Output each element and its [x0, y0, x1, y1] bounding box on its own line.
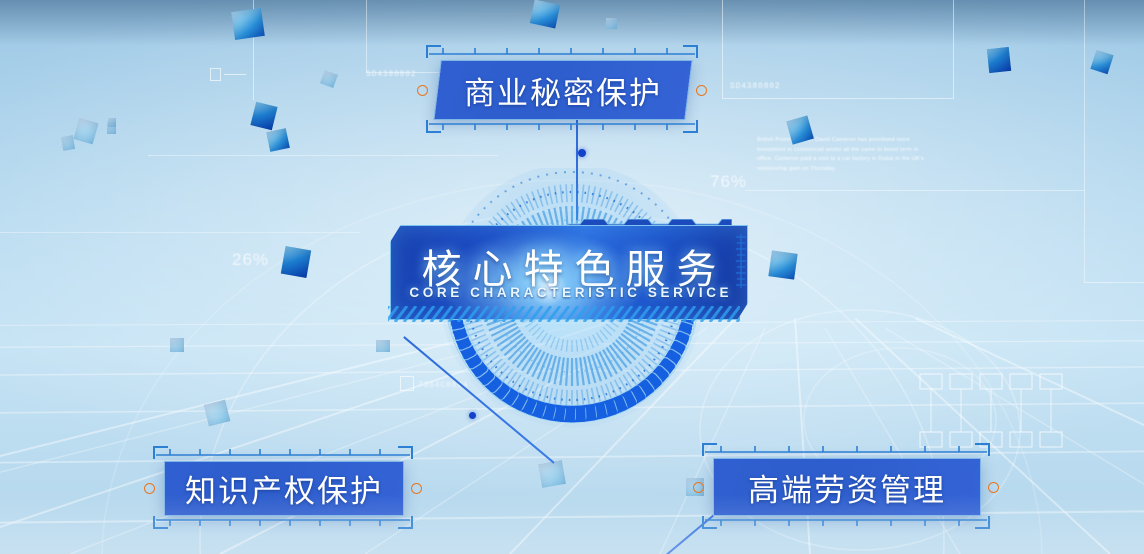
floating-cube [108, 118, 116, 127]
orange-ring-marker-icon [988, 482, 999, 493]
node-bottom-left-label: 知识产权保护 [185, 466, 383, 511]
corner-bracket-icon [702, 443, 717, 456]
floating-cube [170, 338, 184, 352]
orange-ring-marker-icon [693, 482, 704, 493]
floating-cube [768, 250, 797, 279]
node-top-tick-rail-top [429, 48, 695, 55]
node-bl-tick-rail-top [156, 449, 410, 456]
corner-bracket-icon [683, 45, 698, 58]
orange-ring-marker-icon [696, 85, 707, 96]
node-top-label: 商业秘密保护 [464, 68, 662, 113]
node-top-tick-rail-bottom [429, 123, 695, 130]
banner-hatch-strip [388, 306, 740, 322]
corner-bracket-icon [398, 446, 413, 459]
corner-bracket-icon [398, 516, 413, 529]
center-emblem: 核心特色服务 CORE CHARACTERISTIC SERVICE [372, 168, 772, 433]
floating-cube [61, 135, 75, 151]
corner-bracket-icon [153, 516, 168, 529]
node-bottom-right-box[interactable]: 高端劳资管理 [713, 458, 981, 516]
corner-bracket-icon [683, 120, 698, 133]
floating-cube [266, 128, 290, 152]
floating-cube [231, 8, 265, 40]
floating-cube [606, 18, 617, 29]
floating-cube [281, 246, 311, 278]
corner-bracket-icon [426, 45, 441, 58]
floating-cube [530, 0, 560, 28]
floating-cube [987, 47, 1011, 73]
node-bottom-right-label: 高端劳资管理 [748, 465, 946, 510]
node-br-tick-rail-bottom [705, 519, 987, 526]
node-bl-tick-rail-bottom [156, 519, 410, 526]
corner-bracket-icon [975, 443, 990, 456]
hud-ruler-icon [735, 234, 747, 288]
connector-node-dot [578, 149, 586, 157]
center-title-en: CORE CHARACTERISTIC SERVICE [390, 285, 748, 300]
node-bottom-right[interactable]: 高端劳资管理 [713, 458, 979, 514]
corner-bracket-icon [153, 446, 168, 459]
floating-cube [538, 460, 566, 488]
corner-bracket-icon [975, 516, 990, 529]
node-br-tick-rail-top [705, 446, 987, 453]
orange-ring-marker-icon [411, 483, 422, 494]
orange-ring-marker-icon [417, 85, 428, 96]
node-bottom-left-box[interactable]: 知识产权保护 [164, 461, 404, 516]
node-top[interactable]: 商业秘密保护 [437, 60, 687, 118]
node-top-box[interactable]: 商业秘密保护 [433, 60, 692, 120]
corner-bracket-icon [702, 516, 717, 529]
corner-bracket-icon [426, 120, 441, 133]
orange-ring-marker-icon [144, 483, 155, 494]
node-bottom-left[interactable]: 知识产权保护 [164, 461, 402, 514]
scene-root: SD4380802 SD4380802 7364C0884 26% 76% Br… [0, 0, 1144, 554]
